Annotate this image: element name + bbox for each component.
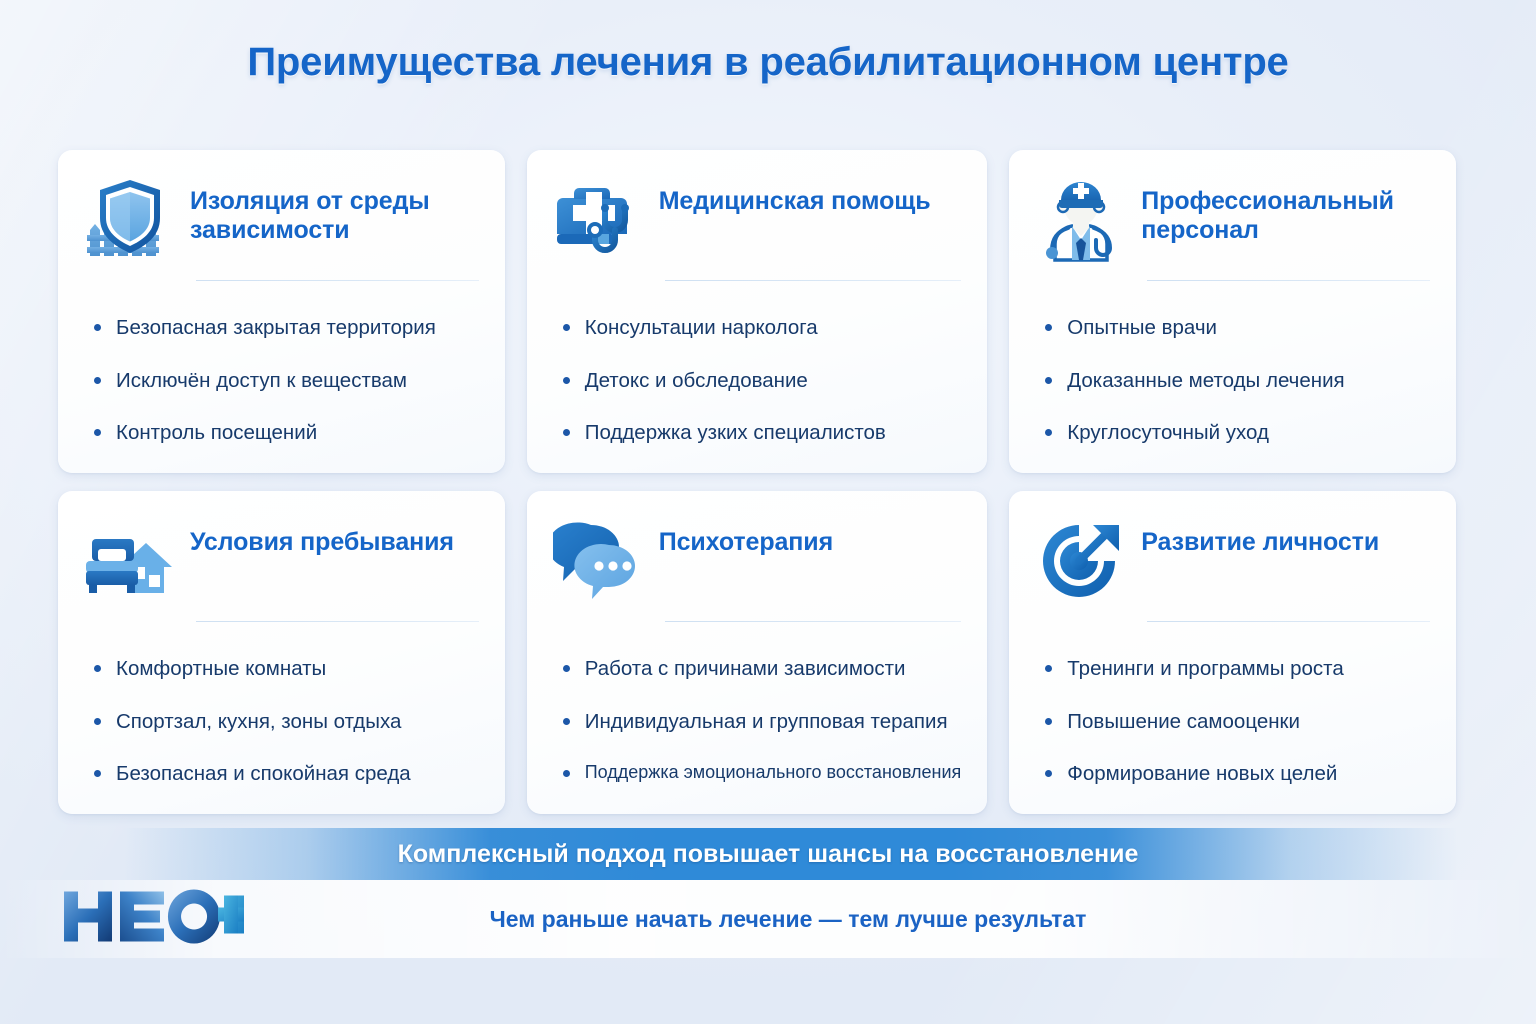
benefit-card-medical-help[interactable]: Медицинская помощь Консультации нарколог… [527, 150, 988, 473]
list-item: Поддержка узких специалистов [559, 420, 962, 447]
card-header: Психотерапия [553, 515, 962, 611]
list-item: Детокс и обследование [559, 368, 962, 395]
list-item: Контроль посещений [90, 420, 479, 447]
list-item: Спортзал, кухня, зоны отдыха [90, 709, 479, 736]
page-header: Преимущества лечения в реабилитационном … [0, 0, 1536, 124]
summary-banner-text: Комплексный подход повышает шансы на вос… [398, 840, 1139, 869]
shield-fence-icon [84, 174, 176, 266]
list-item: Доказанные методы лечения [1041, 368, 1430, 395]
list-item: Опытные врачи [1041, 315, 1430, 342]
card-title: Медицинская помощь [659, 174, 931, 216]
list-item: Формирование новых целей [1041, 761, 1430, 788]
benefit-card-personal-growth[interactable]: Развитие личности Тренинги и программы р… [1009, 491, 1456, 814]
card-bullet-list: Консультации нарколога Детокс и обследов… [553, 315, 962, 447]
page-title: Преимущества лечения в реабилитационном … [247, 40, 1288, 85]
list-item: Работа с причинами зависимости [559, 656, 962, 683]
benefit-card-psychotherapy[interactable]: Психотерапия Работа с причинами зависимо… [527, 491, 988, 814]
summary-banner: Комплексный подход повышает шансы на вос… [0, 828, 1536, 880]
card-title: Изоляция от среды зависимости [190, 174, 479, 245]
list-item: Круглосуточный уход [1041, 420, 1430, 447]
list-item: Безопасная и спокойная среда [90, 761, 479, 788]
card-title: Условия пребывания [190, 515, 454, 557]
benefit-card-professional-staff[interactable]: Профессиональный персонал Опытные врачи … [1009, 150, 1456, 473]
list-item: Поддержка эмоционального восстановления [559, 761, 962, 784]
list-item: Тренинги и программы роста [1041, 656, 1430, 683]
list-item: Повышение самооценки [1041, 709, 1430, 736]
brand-logo[interactable] [58, 886, 244, 953]
list-item: Консультации нарколога [559, 315, 962, 342]
card-title: Развитие личности [1141, 515, 1379, 557]
benefit-card-isolation[interactable]: Изоляция от среды зависимости Безопасная… [58, 150, 505, 473]
bed-house-icon [84, 515, 176, 607]
card-bullet-list: Безопасная закрытая территория Исключён … [84, 315, 479, 447]
card-bullet-list: Тренинги и программы роста Повышение сам… [1035, 656, 1430, 788]
list-item: Безопасная закрытая территория [90, 315, 479, 342]
card-divider [665, 280, 962, 281]
footer-bar: Чем раньше начать лечение — тем лучше ре… [0, 880, 1536, 958]
target-arrow-icon [1035, 515, 1127, 607]
card-divider [196, 621, 479, 622]
list-item: Исключён доступ к веществам [90, 368, 479, 395]
speech-bubbles-icon [553, 515, 645, 607]
card-divider [196, 280, 479, 281]
card-header: Развитие личности [1035, 515, 1430, 611]
card-divider [665, 621, 962, 622]
card-divider [1147, 621, 1430, 622]
card-divider [1147, 280, 1430, 281]
card-bullet-list: Комфортные комнаты Спортзал, кухня, зоны… [84, 656, 479, 788]
medical-bag-stethoscope-icon [553, 174, 645, 266]
card-title: Психотерапия [659, 515, 833, 557]
benefits-grid: Изоляция от среды зависимости Безопасная… [58, 150, 1456, 814]
benefit-card-accommodation[interactable]: Условия пребывания Комфортные комнаты Сп… [58, 491, 505, 814]
card-bullet-list: Опытные врачи Доказанные методы лечения … [1035, 315, 1430, 447]
card-header: Изоляция от среды зависимости [84, 174, 479, 270]
card-header: Условия пребывания [84, 515, 479, 611]
doctor-icon [1035, 174, 1127, 266]
list-item: Индивидуальная и групповая терапия [559, 709, 962, 736]
card-title: Профессиональный персонал [1141, 174, 1430, 245]
list-item: Комфортные комнаты [90, 656, 479, 683]
card-header: Профессиональный персонал [1035, 174, 1430, 270]
card-bullet-list: Работа с причинами зависимости Индивидуа… [553, 656, 962, 785]
card-header: Медицинская помощь [553, 174, 962, 270]
